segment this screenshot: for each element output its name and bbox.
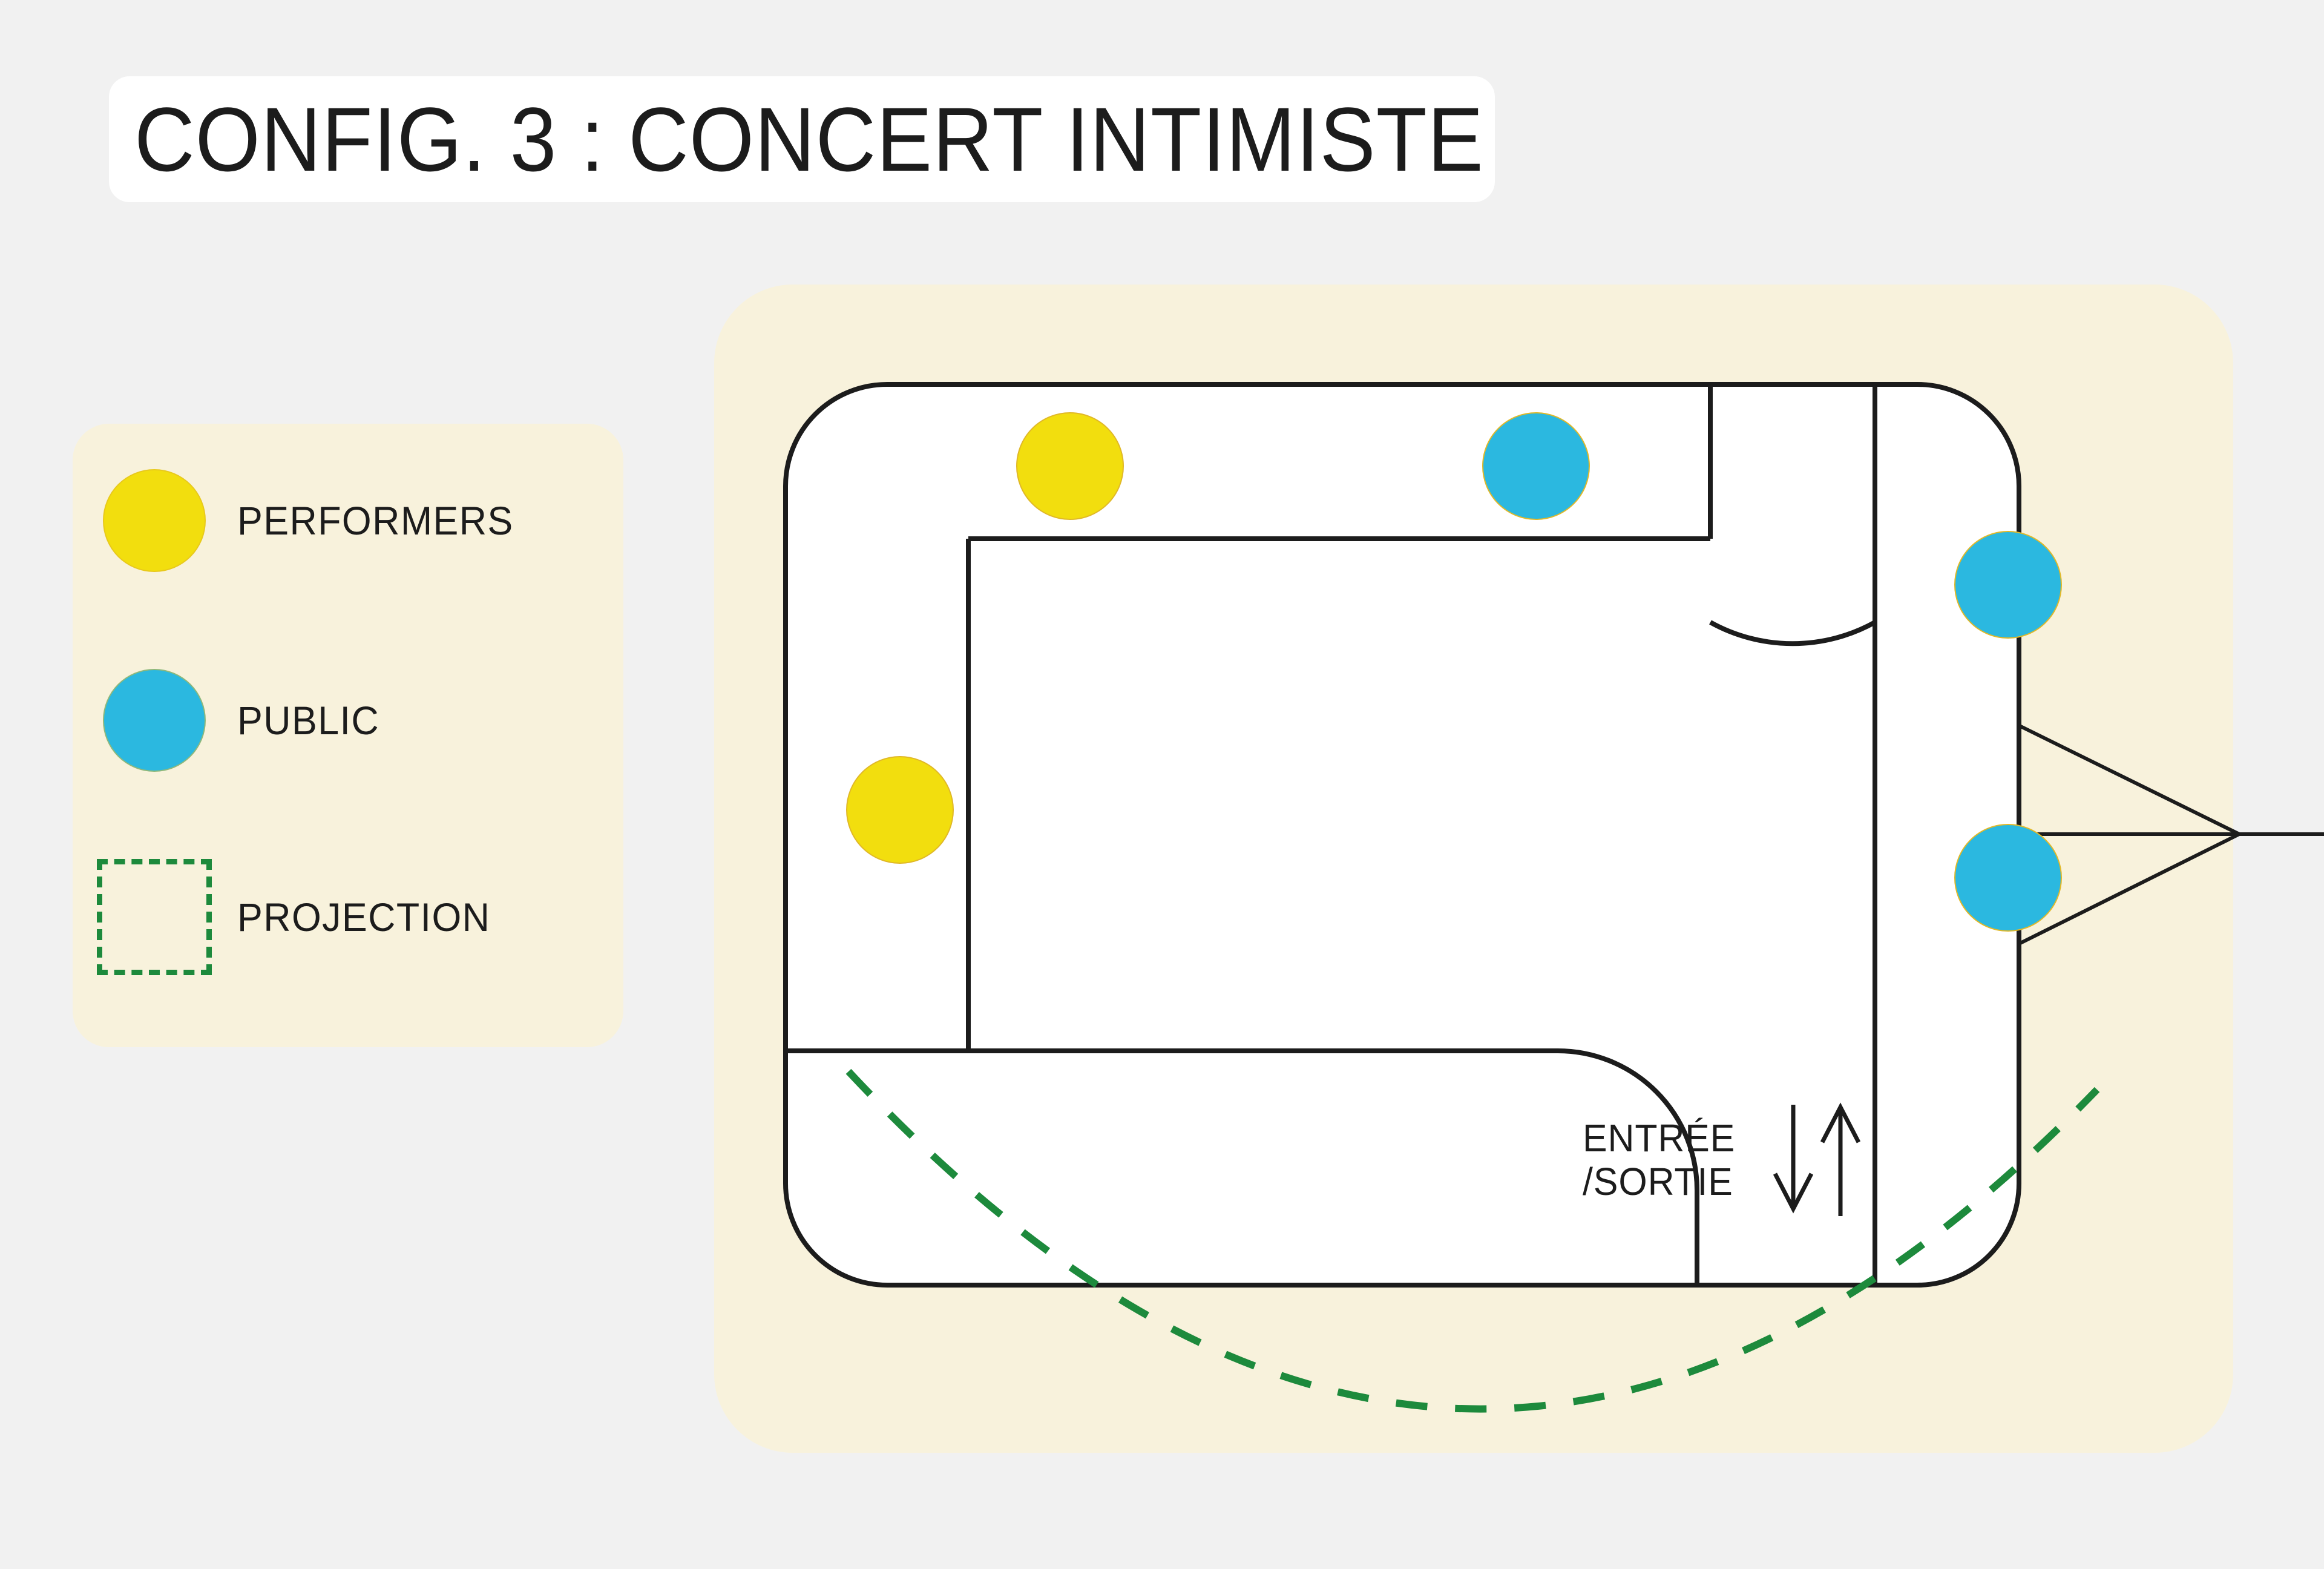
title-card: CONFIG. 3 : CONCERT INTIMISTE (109, 76, 1495, 202)
legend-label-projection: PROJECTION (237, 894, 490, 940)
plan-panel (714, 285, 2233, 1453)
legend-item-performers: PERFORMERS (73, 460, 623, 581)
page-title: CONFIG. 3 : CONCERT INTIMISTE (134, 94, 1484, 185)
entry-exit-label: ENTRÉE /SORTIE (1583, 1117, 1735, 1203)
yellow-circle-icon (103, 469, 206, 572)
entry-label-line2: /SORTIE (1583, 1160, 1735, 1204)
projection-swatch (97, 859, 212, 975)
blue-circle-icon (103, 669, 206, 772)
legend-label-public: PUBLIC (237, 697, 379, 743)
legend-item-projection: PROJECTION (73, 857, 623, 978)
legend-label-performers: PERFORMERS (237, 498, 514, 544)
legend-item-public: PUBLIC (73, 660, 623, 781)
diagram-canvas: CONFIG. 3 : CONCERT INTIMISTE PERFORMERS… (0, 0, 2324, 1569)
legend-card: PERFORMERS PUBLIC PROJECTION (73, 424, 623, 1047)
public-swatch (97, 669, 212, 772)
green-dashed-square-icon (97, 859, 212, 975)
performers-swatch (97, 469, 212, 572)
entry-exit-arrows (1770, 1100, 1867, 1221)
entry-exit-annotation: ENTRÉE /SORTIE (1583, 1117, 1867, 1221)
entry-label-line1: ENTRÉE (1583, 1117, 1735, 1160)
